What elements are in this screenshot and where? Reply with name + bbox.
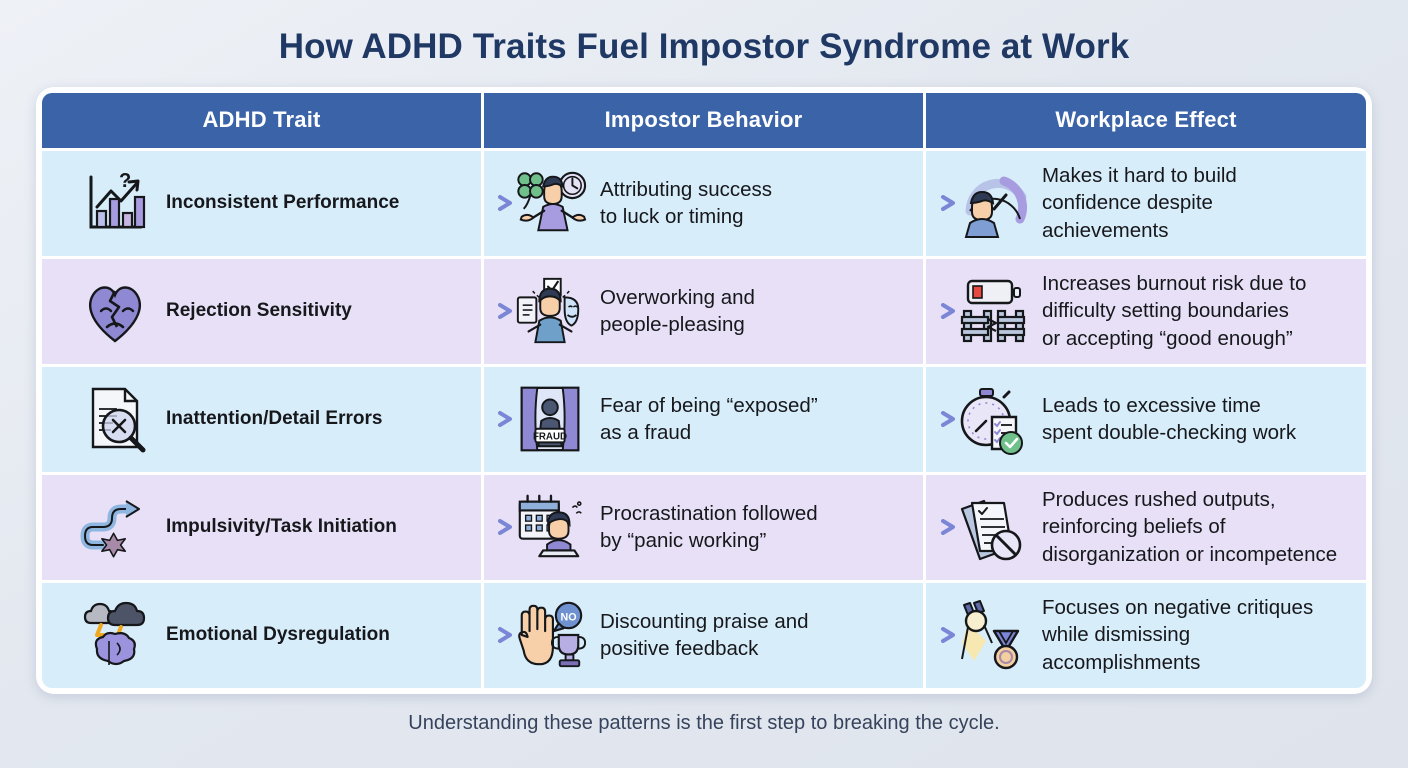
behavior-cell: Attributing success to luck or timing bbox=[484, 151, 923, 256]
trait-label: Inconsistent Performance bbox=[166, 191, 399, 215]
low-battery-broken-fence-icon bbox=[954, 269, 1030, 353]
effect-label: Increases burnout risk due to difficulty… bbox=[1042, 270, 1306, 351]
infographic-page: How ADHD Traits Fuel Impostor Syndrome a… bbox=[0, 0, 1408, 768]
behavior-cell: Overworking and people-pleasing bbox=[484, 259, 923, 364]
behavior-label: Fear of being “exposed” as a fraud bbox=[600, 392, 818, 446]
document-magnifier-x-icon bbox=[76, 377, 154, 461]
comparison-table-card: ADHD Trait Impostor Behavior Workplace E… bbox=[36, 87, 1372, 694]
spotlight-medal-icon bbox=[954, 593, 1030, 677]
effect-cell: Produces rushed outputs, reinforcing bel… bbox=[926, 475, 1366, 580]
stopwatch-checklist-check-icon bbox=[954, 377, 1030, 461]
effect-label: Makes it hard to build confidence despit… bbox=[1042, 162, 1237, 243]
trait-label: Inattention/Detail Errors bbox=[166, 407, 382, 431]
effect-label: Leads to excessive time spent double-che… bbox=[1042, 392, 1296, 446]
behavior-label: Discounting praise and positive feedback bbox=[600, 608, 809, 662]
trait-cell: Rejection Sensitivity bbox=[42, 259, 481, 364]
behavior-label: Attributing success to luck or timing bbox=[600, 176, 772, 230]
stacked-papers-prohibited-icon bbox=[954, 485, 1030, 569]
table-row: ? Inconsistent Performance bbox=[42, 151, 1366, 256]
effect-cell: Increases burnout risk due to difficulty… bbox=[926, 259, 1366, 364]
stage-curtain-fraud-sign-icon: FRAUD bbox=[512, 377, 588, 461]
effect-label: Produces rushed outputs, reinforcing bel… bbox=[1042, 486, 1337, 567]
table-row: Emotional Dysregulation NO bbox=[42, 583, 1366, 688]
table-row: Rejection Sensitivity bbox=[42, 259, 1366, 364]
table-row: Inattention/Detail Errors FRAUD bbox=[42, 367, 1366, 472]
behavior-cell: FRAUD Fear of being “exposed” as a fraud bbox=[484, 367, 923, 472]
behavior-label: Overworking and people-pleasing bbox=[600, 284, 755, 338]
broken-heart-sad-face-icon bbox=[76, 269, 154, 353]
trait-label: Impulsivity/Task Initiation bbox=[166, 515, 397, 539]
storm-cloud-brain-lightning-icon bbox=[76, 593, 154, 677]
page-title: How ADHD Traits Fuel Impostor Syndrome a… bbox=[279, 28, 1130, 67]
behavior-cell: NO Discounting praise and positive feedb… bbox=[484, 583, 923, 688]
calendar-person-laptop-icon bbox=[512, 485, 588, 569]
behavior-label: Procrastination followed by “panic worki… bbox=[600, 500, 818, 554]
effect-cell: Leads to excessive time spent double-che… bbox=[926, 367, 1366, 472]
trait-cell: ? Inconsistent Performance bbox=[42, 151, 481, 256]
footer-caption: Understanding these patterns is the firs… bbox=[408, 712, 999, 735]
effect-label: Focuses on negative critiques while dism… bbox=[1042, 594, 1313, 675]
column-header-impostor-behavior: Impostor Behavior bbox=[484, 93, 923, 148]
hand-stop-no-bubble-trophy-icon: NO bbox=[512, 593, 588, 677]
checklist-person-masks-icon bbox=[512, 269, 588, 353]
person-gauge-icon bbox=[954, 161, 1030, 245]
trait-cell: Impulsivity/Task Initiation bbox=[42, 475, 481, 580]
effect-cell: Makes it hard to build confidence despit… bbox=[926, 151, 1366, 256]
table-header-row: ADHD Trait Impostor Behavior Workplace E… bbox=[42, 93, 1366, 148]
behavior-cell: Procrastination followed by “panic worki… bbox=[484, 475, 923, 580]
zigzag-arrow-burst-icon bbox=[76, 485, 154, 569]
clover-shrug-person-clock-icon bbox=[512, 161, 588, 245]
effect-cell: Focuses on negative critiques while dism… bbox=[926, 583, 1366, 688]
column-header-workplace-effect: Workplace Effect bbox=[926, 93, 1366, 148]
table-row: Impulsivity/Task Initiation bbox=[42, 475, 1366, 580]
svg-text:?: ? bbox=[119, 170, 131, 192]
trait-cell: Inattention/Detail Errors bbox=[42, 367, 481, 472]
trait-label: Emotional Dysregulation bbox=[166, 623, 390, 647]
trait-label: Rejection Sensitivity bbox=[166, 299, 352, 323]
bar-chart-question-arrow-icon: ? bbox=[76, 161, 154, 245]
fraud-sign-text: FRAUD bbox=[533, 431, 567, 442]
trait-cell: Emotional Dysregulation bbox=[42, 583, 481, 688]
no-bubble-text: NO bbox=[560, 611, 576, 623]
column-header-adhd-trait: ADHD Trait bbox=[42, 93, 481, 148]
